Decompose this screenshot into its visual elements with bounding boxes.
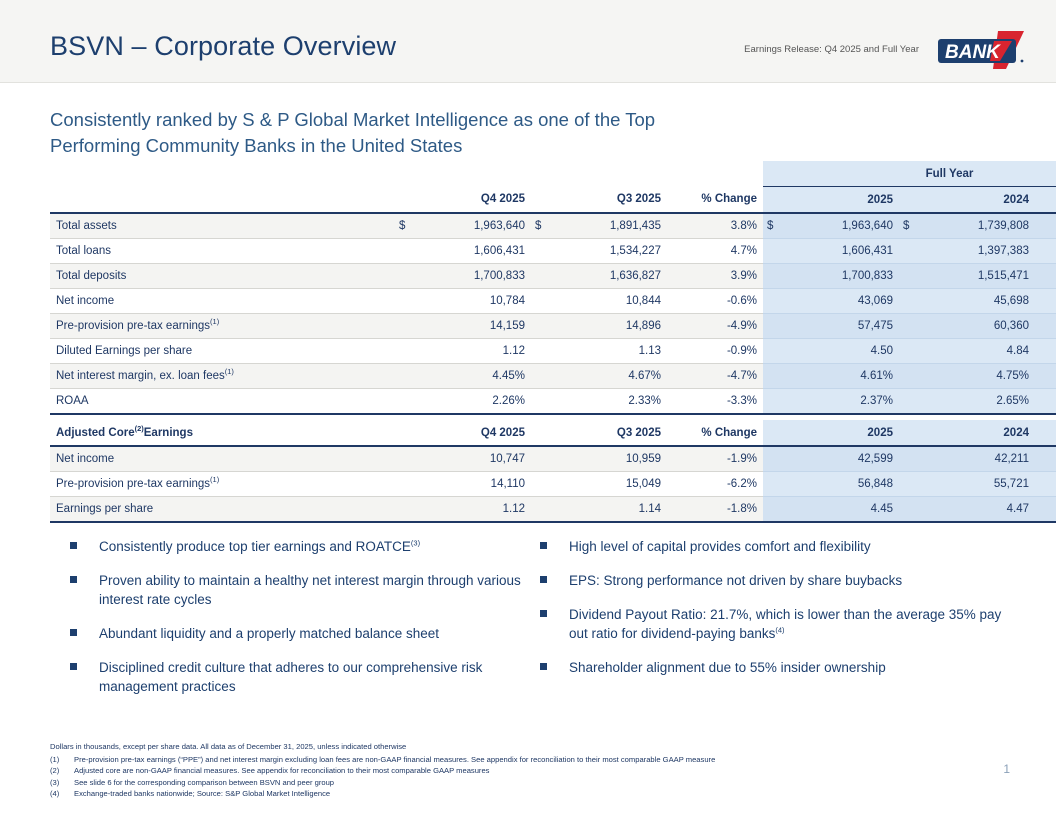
row-label-text: Diluted Earnings per share [56,345,192,357]
table1-body: Total assets$1,963,640$1,891,4353.8%$1,9… [50,213,1056,414]
fy2024-dollar-sign [899,389,929,415]
footnote-marker: (2) [50,765,74,777]
square-bullet-icon [540,576,547,583]
q3-dollar-sign [531,289,565,314]
fy-pct-change-value: -3.1% [1035,364,1056,389]
fy2025-value: 2.37% [793,389,899,415]
square-bullet-icon [70,542,77,549]
bank7-logo: BANK [936,29,1032,71]
fy-pct-change-value: 15.0% [1035,239,1056,264]
fy2025-dollar-sign: $ [763,213,793,239]
footnotes: Dollars in thousands, except per share d… [50,741,950,800]
footnote-text: See slide 6 for the corresponding compar… [74,777,334,789]
q4-value: 1.12 [429,497,531,523]
list-item: Proven ability to maintain a healthy net… [70,571,530,609]
list-item-text: Proven ability to maintain a healthy net… [99,571,530,609]
q4-value: 1,963,640 [429,213,531,239]
fy2024-value: 42,211 [929,446,1035,472]
slide-subtitle: Consistently ranked by S & P Global Mark… [50,107,690,159]
q3-dollar-sign [531,446,565,472]
footnote-line: (2)Adjusted core are non-GAAP financial … [50,765,950,777]
adjusted-core-table: Adjusted Core(2)Earnings Q4 2025 Q3 2025… [50,420,1056,523]
q4-dollar-sign: $ [395,213,429,239]
fy2024-dollar-sign [899,339,929,364]
list-item: High level of capital provides comfort a… [540,537,1010,556]
fy2024-dollar-sign [899,314,929,339]
svg-text:BANK: BANK [945,42,1001,63]
q3-value: 10,959 [565,446,667,472]
th-pct-change: % Change [667,187,763,214]
q3-value: 10,844 [565,289,667,314]
fy2025-dollar-sign [763,314,793,339]
q3-value: 1.14 [565,497,667,523]
q4-dollar-sign [395,239,429,264]
fy2025-value: 4.50 [793,339,899,364]
fy2024-value: 4.84 [929,339,1035,364]
th-label [50,187,395,214]
fy2024-dollar-sign [899,472,929,497]
table-row: Net interest margin, ex. loan fees(1)4.4… [50,364,1056,389]
q3-value: 1,534,227 [565,239,667,264]
q3-dollar-sign [531,472,565,497]
fy2024-dollar-sign [899,289,929,314]
q4-dollar-sign [395,497,429,523]
list-item: Dividend Payout Ratio: 21.7%, which is l… [540,605,1010,643]
q4-value: 1,606,431 [429,239,531,264]
full-year-group-header: Full Year [763,161,1056,187]
list-item: EPS: Strong performance not driven by sh… [540,571,1010,590]
footnote-text: Exchange-traded banks nationwide; Source… [74,788,330,800]
list-item: Disciplined credit culture that adheres … [70,658,530,696]
q3-dollar-sign [531,389,565,415]
table-row: Total loans1,606,4311,534,2274.7%1,606,4… [50,239,1056,264]
row-label: Total loans [50,239,395,264]
fy2025-dollar-sign [763,264,793,289]
table-row: Net income10,74710,959-1.9%42,59942,2110… [50,446,1056,472]
fy-pct-change-value: 0.9% [1035,446,1056,472]
bullet-list-left: Consistently produce top tier earnings a… [70,537,530,711]
q3-value: 4.67% [565,364,667,389]
pct-change-value: -1.9% [667,446,763,472]
table1-fullyear-header-row: Full Year [50,161,1056,187]
square-bullet-icon [70,629,77,636]
q3-dollar-sign [531,497,565,523]
row-label-text: Net income [56,453,114,465]
row-label: Earnings per share [50,497,395,523]
row-label-footnote-marker: (1) [210,475,219,484]
table1-column-header-row: Q4 2025 Q3 2025 % Change 2025 2024 % Cha… [50,187,1056,214]
fy-pct-change-value: -10.8% [1035,389,1056,415]
fy2025-value: 57,475 [793,314,899,339]
th-fy-2024: 2024 [899,187,1035,214]
fy2025-value: 56,848 [793,472,899,497]
q4-dollar-sign [395,264,429,289]
row-label-text: Pre-provision pre-tax earnings [56,320,210,332]
pct-change-value: 3.8% [667,213,763,239]
key-metrics-table-wrap: Full Year Q4 2025 Q3 2025 % Change 2025 … [50,161,1012,415]
q4-value: 14,110 [429,472,531,497]
fy2024-value: 4.75% [929,364,1035,389]
fy2025-dollar-sign [763,239,793,264]
q3-dollar-sign: $ [531,213,565,239]
footnote-text: Adjusted core are non-GAAP financial mea… [74,765,489,777]
list-item-footnote-marker: (3) [411,539,420,548]
fy2025-value: 4.45 [793,497,899,523]
fy-pct-change-value: -7.0% [1035,339,1056,364]
row-label-text: Total assets [56,220,117,232]
page-number: 1 [1003,762,1010,776]
pct-change-value: 4.7% [667,239,763,264]
fy2025-dollar-sign [763,389,793,415]
row-label-text: ROAA [56,395,89,407]
page-title: BSVN – Corporate Overview [50,31,396,62]
th-q4-2025: Q4 2025 [395,187,531,214]
q4-dollar-sign [395,364,429,389]
row-label: Total deposits [50,264,395,289]
q4-dollar-sign [395,289,429,314]
fy-pct-change-value: -4.8% [1035,314,1056,339]
table-row: ROAA2.26%2.33%-3.3%2.37%2.65%-10.8% [50,389,1056,415]
fy-pct-change-value: -0.4% [1035,497,1056,523]
row-label: Diluted Earnings per share [50,339,395,364]
fy-pct-change-value: 12.9% [1035,213,1056,239]
footnote-line: (4)Exchange-traded banks nationwide; Sou… [50,788,950,800]
q3-dollar-sign [531,239,565,264]
row-label-text: Total deposits [56,270,126,282]
q4-value: 1.12 [429,339,531,364]
q3-dollar-sign [531,364,565,389]
fy2025-dollar-sign [763,364,793,389]
table-row: Total assets$1,963,640$1,891,4353.8%$1,9… [50,213,1056,239]
fy2024-dollar-sign: $ [899,213,929,239]
fy2024-value: 1,739,808 [929,213,1035,239]
fy2025-value: 1,963,640 [793,213,899,239]
table-row: Net income10,78410,844-0.6%43,06945,698-… [50,289,1056,314]
th2-fy-pct-change: % Change [1035,420,1056,446]
adjusted-core-earnings-title: Adjusted Core(2)Earnings [50,420,395,446]
q4-dollar-sign [395,472,429,497]
table-row: Pre-provision pre-tax earnings(1)14,1591… [50,314,1056,339]
fy2024-value: 1,515,471 [929,264,1035,289]
pct-change-value: -1.8% [667,497,763,523]
fy2025-dollar-sign [763,339,793,364]
fy2025-value: 43,069 [793,289,899,314]
key-metrics-table: Full Year Q4 2025 Q3 2025 % Change 2025 … [50,161,1056,415]
fy2025-dollar-sign [763,472,793,497]
list-item: Consistently produce top tier earnings a… [70,537,530,556]
q4-value: 1,700,833 [429,264,531,289]
list-item-text: Consistently produce top tier earnings a… [99,537,530,556]
row-label: Net income [50,446,395,472]
fy2024-dollar-sign [899,446,929,472]
footnote-marker: (1) [50,754,74,766]
square-bullet-icon [70,663,77,670]
fy2025-value: 1,606,431 [793,239,899,264]
list-item-text: High level of capital provides comfort a… [569,537,1010,556]
pct-change-value: -0.9% [667,339,763,364]
q4-value: 2.26% [429,389,531,415]
row-label: ROAA [50,389,395,415]
row-label-text: Earnings per share [56,503,153,515]
row-label: Pre-provision pre-tax earnings(1) [50,314,395,339]
th-q3-2025: Q3 2025 [531,187,667,214]
pct-change-value: 3.9% [667,264,763,289]
row-label-footnote-marker: (1) [210,317,219,326]
th-fy-pct-change: % Change [1035,187,1056,214]
row-label-text: Net income [56,295,114,307]
q4-dollar-sign [395,389,429,415]
th2-q3-2025: Q3 2025 [531,420,667,446]
list-item-text: Abundant liquidity and a properly matche… [99,624,530,643]
fy2024-value: 4.47 [929,497,1035,523]
fy-pct-change-value: 12.2% [1035,264,1056,289]
square-bullet-icon [540,542,547,549]
footnote-items: (1)Pre-provision pre-tax earnings (“PPE”… [50,754,950,800]
pct-change-value: -4.9% [667,314,763,339]
fy2025-dollar-sign [763,497,793,523]
q3-value: 14,896 [565,314,667,339]
list-item: Shareholder alignment due to 55% insider… [540,658,1010,677]
bullet-list-right: High level of capital provides comfort a… [540,537,1010,692]
square-bullet-icon [70,576,77,583]
fy2024-value: 1,397,383 [929,239,1035,264]
th2-q4-2025: Q4 2025 [395,420,531,446]
square-bullet-icon [540,610,547,617]
list-item-text: EPS: Strong performance not driven by sh… [569,571,1010,590]
pct-change-value: -6.2% [667,472,763,497]
row-label-text: Net interest margin, ex. loan fees [56,370,225,382]
q4-dollar-sign [395,339,429,364]
footnote-text: Pre-provision pre-tax earnings (“PPE”) a… [74,754,715,766]
pct-change-value: -0.6% [667,289,763,314]
fy2024-value: 45,698 [929,289,1035,314]
fy2024-dollar-sign [899,239,929,264]
fy2024-value: 60,360 [929,314,1035,339]
fy2024-dollar-sign [899,264,929,289]
footnote-marker: (4) [50,788,74,800]
footnote-intro: Dollars in thousands, except per share d… [50,741,950,753]
list-item-text: Dividend Payout Ratio: 21.7%, which is l… [569,605,1010,643]
fy2024-dollar-sign [899,364,929,389]
q3-dollar-sign [531,264,565,289]
th-fy-2025: 2025 [763,187,899,214]
table-row: Earnings per share1.121.14-1.8%4.454.47-… [50,497,1056,523]
adjusted-core-label2: Earnings [144,427,193,439]
pct-change-value: -4.7% [667,364,763,389]
q3-value: 1,636,827 [565,264,667,289]
fy2025-dollar-sign [763,289,793,314]
fy2024-value: 2.65% [929,389,1035,415]
footnote-marker: (3) [50,777,74,789]
footnote-line: (3)See slide 6 for the corresponding com… [50,777,950,789]
list-item-text: Disciplined credit culture that adheres … [99,658,530,696]
q4-dollar-sign [395,446,429,472]
fy-pct-change-value: -5.8% [1035,289,1056,314]
row-label-footnote-marker: (1) [225,367,234,376]
row-label-text: Pre-provision pre-tax earnings [56,478,210,490]
row-label: Net income [50,289,395,314]
q3-value: 15,049 [565,472,667,497]
q3-dollar-sign [531,314,565,339]
row-label: Total assets [50,213,395,239]
table-row: Diluted Earnings per share1.121.13-0.9%4… [50,339,1056,364]
table-row: Total deposits1,700,8331,636,8273.9%1,70… [50,264,1056,289]
q4-value: 10,747 [429,446,531,472]
th2-pct-change: % Change [667,420,763,446]
adjusted-core-sup: (2) [135,424,144,433]
q3-value: 1.13 [565,339,667,364]
row-label: Net interest margin, ex. loan fees(1) [50,364,395,389]
list-item-footnote-marker: (4) [775,626,784,635]
th2-fy-2024: 2024 [899,420,1035,446]
q3-dollar-sign [531,339,565,364]
table2-body: Net income10,74710,959-1.9%42,59942,2110… [50,446,1056,522]
q4-value: 4.45% [429,364,531,389]
q4-value: 14,159 [429,314,531,339]
q4-value: 10,784 [429,289,531,314]
list-item-text: Shareholder alignment due to 55% insider… [569,658,1010,677]
fy2024-value: 55,721 [929,472,1035,497]
fy2025-value: 1,700,833 [793,264,899,289]
table2-section-header-row: Adjusted Core(2)Earnings Q4 2025 Q3 2025… [50,420,1056,446]
square-bullet-icon [540,663,547,670]
q3-value: 2.33% [565,389,667,415]
fy2025-value: 4.61% [793,364,899,389]
q4-dollar-sign [395,314,429,339]
fy-pct-change-value: 2.0% [1035,472,1056,497]
adjusted-core-label: Adjusted Core [56,427,135,439]
row-label: Pre-provision pre-tax earnings(1) [50,472,395,497]
list-item: Abundant liquidity and a properly matche… [70,624,530,643]
th2-fy-2025: 2025 [763,420,899,446]
footnote-line: (1)Pre-provision pre-tax earnings (“PPE”… [50,754,950,766]
fy2025-dollar-sign [763,446,793,472]
row-label-text: Total loans [56,245,111,257]
adjusted-core-table-wrap: Adjusted Core(2)Earnings Q4 2025 Q3 2025… [50,420,1012,523]
table-row: Pre-provision pre-tax earnings(1)14,1101… [50,472,1056,497]
earnings-release-note: Earnings Release: Q4 2025 and Full Year [744,44,919,55]
fy2024-dollar-sign [899,497,929,523]
pct-change-value: -3.3% [667,389,763,415]
fy2025-value: 42,599 [793,446,899,472]
q3-value: 1,891,435 [565,213,667,239]
